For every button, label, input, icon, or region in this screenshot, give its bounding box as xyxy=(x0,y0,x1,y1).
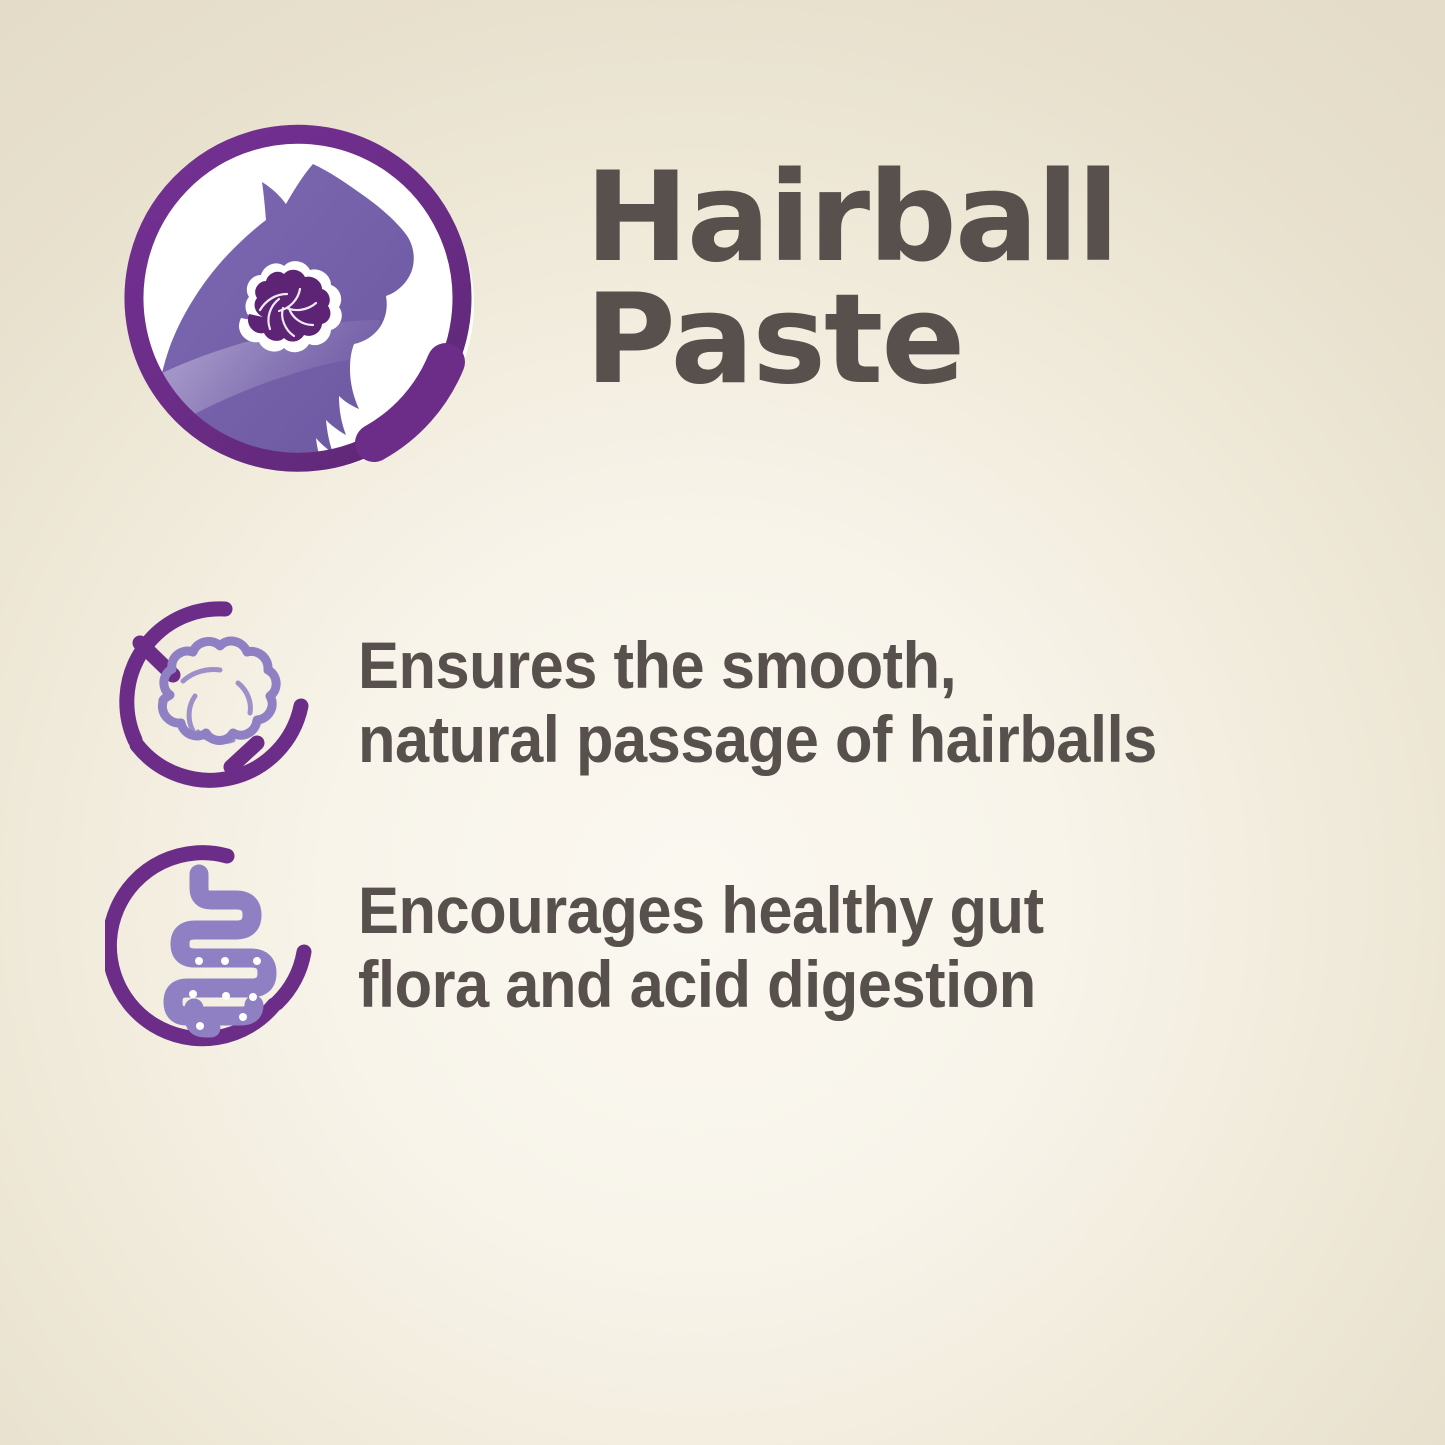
feature-text-line-2: flora and acid digestion xyxy=(358,948,1369,1022)
feature-row: Ensures the smooth, natural passage of h… xyxy=(0,580,1445,825)
feature-row: Encourages healthy gut flora and acid di… xyxy=(0,825,1445,1070)
hairball-paste-infographic: Hairball Paste xyxy=(0,0,1445,1445)
page-title: Hairball Paste xyxy=(585,158,1345,401)
product-title-line-2: Paste xyxy=(585,280,1345,402)
arc-right xyxy=(277,952,304,1003)
intestine-icon xyxy=(105,840,320,1055)
product-title-line-1: Hairball xyxy=(585,158,1345,280)
cat-hairball-logo xyxy=(108,104,508,504)
feature-text: Ensures the smooth, natural passage of h… xyxy=(358,629,1369,777)
feature-text-line-1: Encourages healthy gut xyxy=(358,874,1369,948)
hairball-icon xyxy=(105,595,320,810)
hairball-cloud xyxy=(162,641,276,740)
feature-list: Ensures the smooth, natural passage of h… xyxy=(0,580,1445,1070)
product-header: Hairball Paste xyxy=(0,0,1445,530)
feature-text-line-1: Ensures the smooth, xyxy=(358,629,1369,703)
feature-text: Encourages healthy gut flora and acid di… xyxy=(358,874,1369,1022)
feature-text-line-2: natural passage of hairballs xyxy=(358,703,1369,777)
intestine-coil xyxy=(173,874,267,1028)
